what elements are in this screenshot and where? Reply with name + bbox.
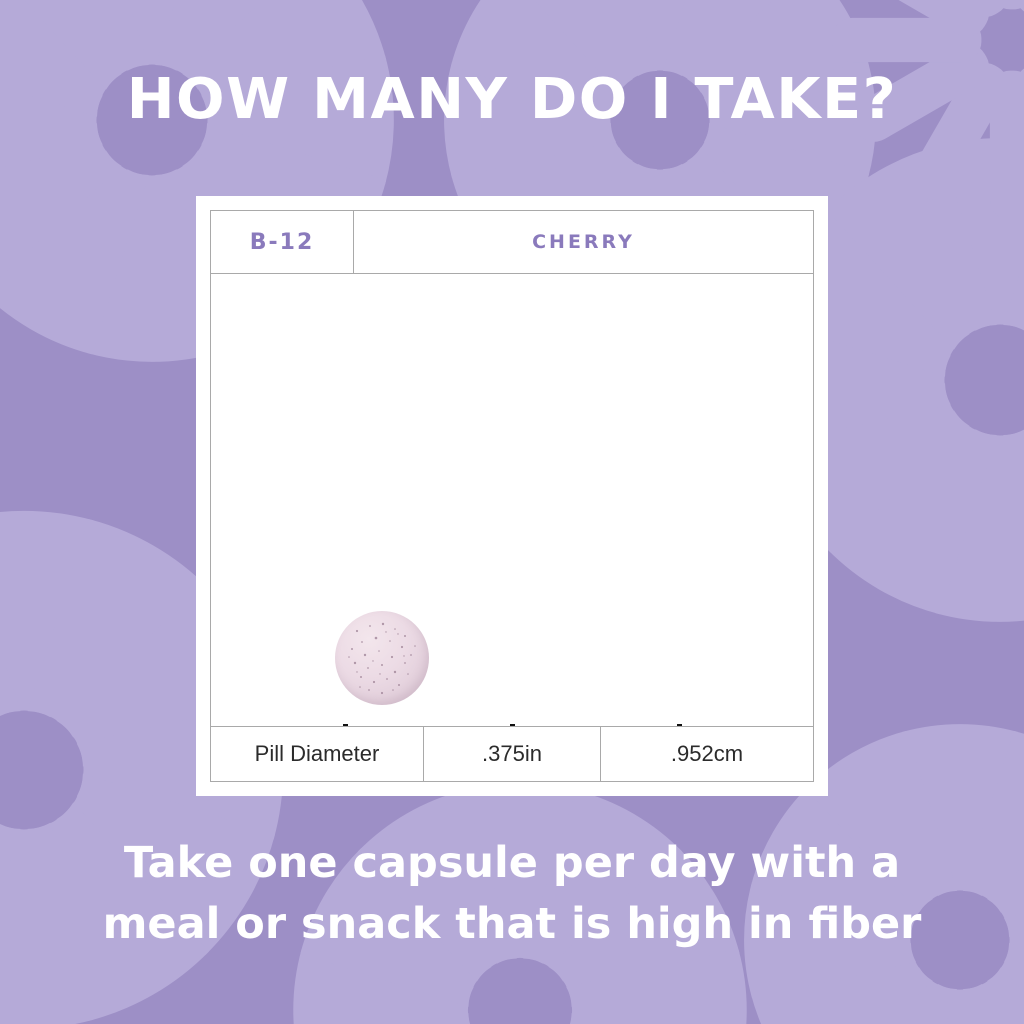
cell-pill-diameter-inches: .375in bbox=[424, 727, 601, 781]
cell-pill-diameter-centimeters: .952cm bbox=[601, 727, 813, 781]
measurement-ruler: 0 .5in 1.27cm 1in 2.54cm bbox=[329, 722, 709, 727]
cell-flavor-name: CHERRY bbox=[354, 211, 813, 273]
caption-line-1: Take one capsule per day with a bbox=[82, 833, 942, 894]
caption-line-2: meal or snack that is high in fiber bbox=[82, 894, 942, 955]
cell-pill-diameter-label: Pill Diameter bbox=[211, 727, 424, 781]
spec-table-footer-row: Pill Diameter .375in .952cm bbox=[211, 727, 813, 781]
spec-table: B-12 CHERRY bbox=[210, 210, 814, 782]
spec-table-header-row: B-12 CHERRY bbox=[211, 211, 813, 274]
poster-canvas: HOW MANY DO I TAKE? B-12 CHERRY bbox=[0, 0, 1024, 1024]
page-title: HOW MANY DO I TAKE? bbox=[0, 72, 1024, 128]
product-spec-card: B-12 CHERRY bbox=[196, 196, 828, 796]
ruler-scale-graphic bbox=[329, 722, 709, 727]
cell-brand-name: B-12 bbox=[211, 211, 354, 273]
dosage-instruction-caption: Take one capsule per day with a meal or … bbox=[82, 833, 942, 955]
pill-preview-area: 0 .5in 1.27cm 1in 2.54cm bbox=[211, 274, 813, 727]
pill-speckle-texture bbox=[335, 611, 429, 705]
pill-tablet-image bbox=[335, 611, 429, 705]
